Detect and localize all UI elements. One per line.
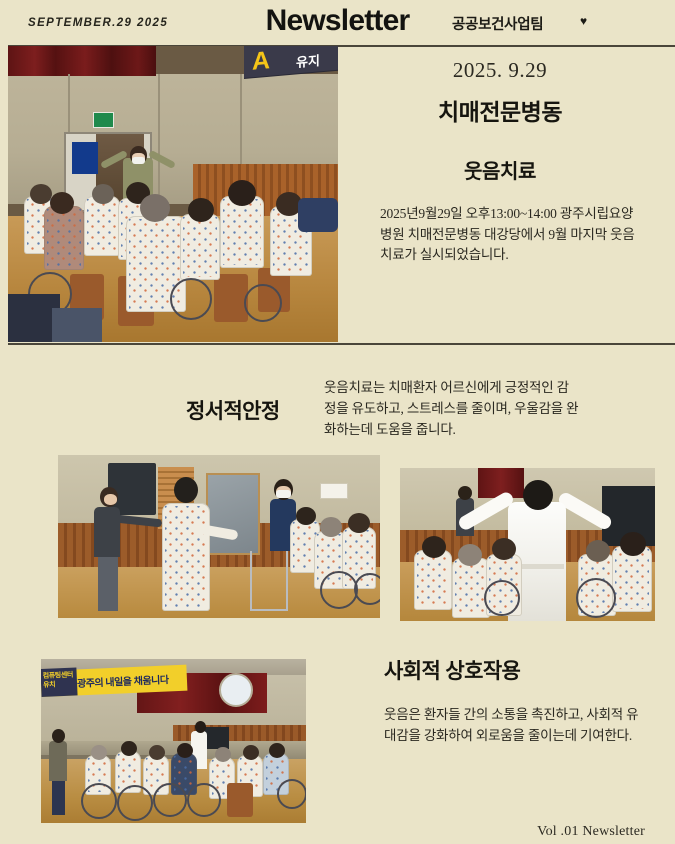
photo-banner-text: 유지 (296, 50, 320, 71)
page-header: SEPTEMBER.29 2025 Newsletter 공공보건사업팀 ♥ (0, 0, 675, 45)
photo-banner-letter: A (252, 46, 270, 77)
section-social-interaction: 사회적 상호작용 웃음은 환자들 간의 소통을 촉진하고, 사회적 유대감을 강… (384, 655, 644, 747)
heart-icon: ♥ (580, 15, 587, 27)
team-name: 공공보건사업팀 (452, 13, 543, 34)
lead-subtitle: 웃음치료 (350, 155, 650, 184)
section-heading-emotional: 정서적안정 (186, 395, 280, 425)
wide-banner-left-text: 컴퓨팅센터 유치 (43, 672, 74, 691)
section-body-social: 웃음은 환자들 간의 소통을 촉진하고, 사회적 유대감을 강화하여 외로움을 … (384, 705, 644, 747)
lead-title: 치매전문병동 (350, 93, 650, 127)
photo-therapy-hall: A 유지 (8, 46, 338, 342)
photo-auditorium-wide: 광주의 내일을 채움니다 컴퓨팅센터 유치 (41, 659, 306, 823)
newsletter-page: SEPTEMBER.29 2025 Newsletter 공공보건사업팀 ♥ A… (0, 0, 675, 844)
photo-group-dancing (58, 455, 380, 618)
photo-leader-white-coat (400, 468, 655, 621)
footer-volume: Vol .01 Newsletter (0, 824, 645, 840)
section-emotional-stability: 정서적안정 웃음치료는 치매환자 어르신에게 긍정적인 감정을 유도하고, 스트… (0, 378, 675, 448)
section-divider (8, 343, 675, 345)
lead-article: 2025. 9.29 치매전문병동 웃음치료 2025년9월29일 오후13:0… (350, 58, 650, 266)
newsletter-title: Newsletter (0, 4, 675, 38)
lead-date: 2025. 9.29 (350, 58, 650, 83)
section-heading-social: 사회적 상호작용 (384, 655, 644, 685)
section-body-emotional: 웃음치료는 치매환자 어르신에게 긍정적인 감정을 유도하고, 스트레스를 줄이… (324, 378, 580, 441)
lead-body: 2025년9월29일 오후13:00~14:00 광주시립요양병원 치매전문병동… (350, 204, 650, 266)
